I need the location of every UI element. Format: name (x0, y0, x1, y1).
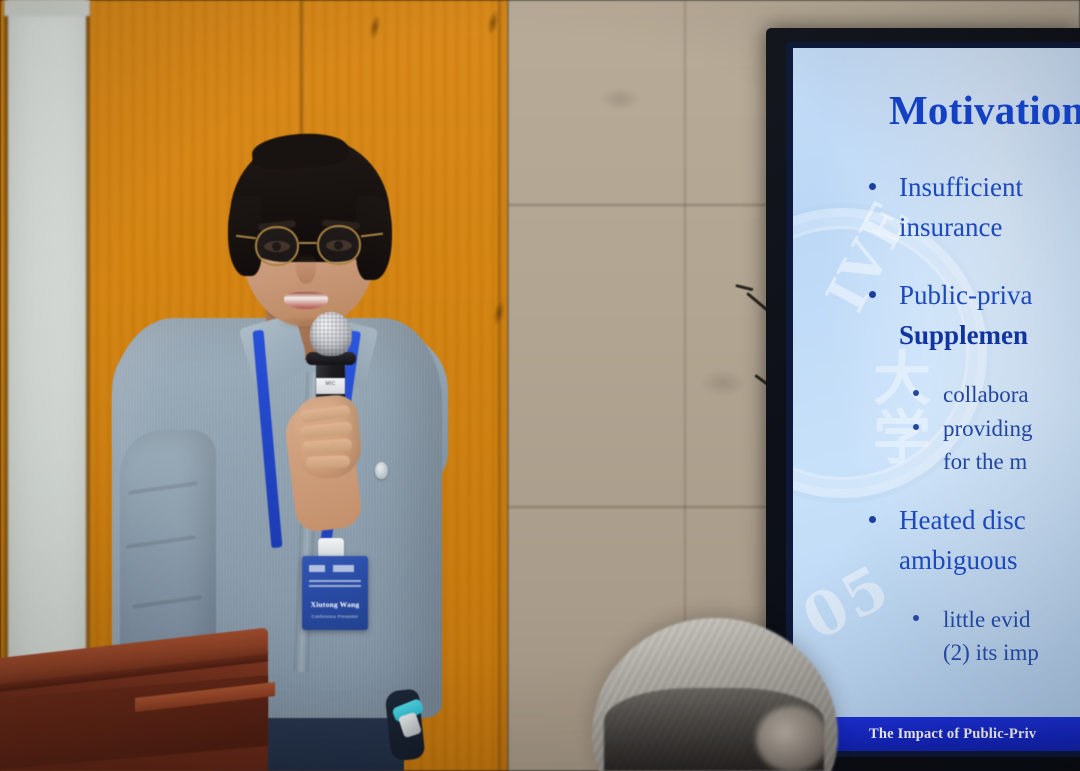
bullet-line: Public-priva (899, 276, 1080, 316)
bullet-dot-icon (913, 424, 919, 430)
slide-spacer (853, 587, 1080, 603)
wall-smudge (700, 370, 746, 396)
bullet-line: ambiguous (899, 541, 1080, 581)
badge-attendee-name: Xiutong Wang (302, 600, 368, 609)
bullet-level1: Public-priva Supplemen (853, 276, 1080, 356)
slide-footer-text: The Impact of Public-Priv (807, 726, 1036, 743)
bullet-dot-icon (869, 291, 876, 298)
bullet-line: collabora (943, 378, 1080, 411)
bullet-line: providing (943, 412, 1080, 445)
bullet-dot-icon (869, 516, 876, 523)
bullet-line-bold: Supplemen (899, 316, 1080, 356)
bullet-line: insurance (899, 208, 1080, 248)
bullet-level2: collabora (853, 378, 1080, 411)
presentation-slide: IVE 大学 05 Motivation Insufficient insura… (793, 48, 1080, 751)
badge-affiliation: Conference Presenter (302, 614, 368, 619)
bullet-dot-icon (869, 183, 876, 190)
speaker-nose (296, 252, 316, 284)
eyeglasses-bridge (299, 242, 317, 244)
bullet-line: for the m (943, 445, 1080, 478)
wall-smudge (600, 88, 640, 110)
slide-spacer (853, 362, 1080, 378)
eyeglasses-lens-left (255, 226, 299, 266)
slide-spacer (853, 254, 1080, 276)
foreground-blur-shoulder (756, 706, 828, 771)
speaker-mouth (284, 292, 328, 309)
slide-bullet-list: Insufficient insurance Public-priva Supp… (853, 168, 1080, 670)
bullet-level2: little evid (2) its imp (853, 603, 1080, 669)
bullet-dot-icon (913, 390, 919, 396)
microphone-grille-mesh (310, 312, 352, 356)
badge-logo-row (309, 565, 361, 572)
badge-conference-subtitle (309, 580, 361, 589)
slide-spacer (853, 479, 1080, 501)
conference-photo-scene: IVE 大学 05 Motivation Insufficient insura… (0, 0, 1080, 771)
bullet-dot-icon (913, 615, 919, 621)
bullet-line: (2) its imp (943, 636, 1080, 669)
bullet-level1: Heated disc ambiguous (853, 501, 1080, 581)
eyeglasses-lens-right (317, 225, 361, 265)
microphone-head (310, 312, 352, 356)
shirt-chest-emblem (375, 462, 388, 479)
bullet-level1: Insufficient insurance (853, 168, 1080, 248)
slide-title: Motivation (889, 86, 1080, 134)
speaker-hair-right (356, 196, 392, 280)
bullet-level2: providing for the m (853, 412, 1080, 478)
microphone-band-label: MIC (316, 381, 345, 387)
conference-name-badge: Xiutong Wang Conference Presenter (302, 556, 368, 630)
finger (306, 455, 350, 469)
slide-footer-banner: The Impact of Public-Priv (807, 717, 1080, 751)
bullet-line: Insufficient (899, 168, 1080, 208)
bullet-line: Heated disc (899, 501, 1080, 541)
bullet-line: little evid (943, 603, 1080, 636)
